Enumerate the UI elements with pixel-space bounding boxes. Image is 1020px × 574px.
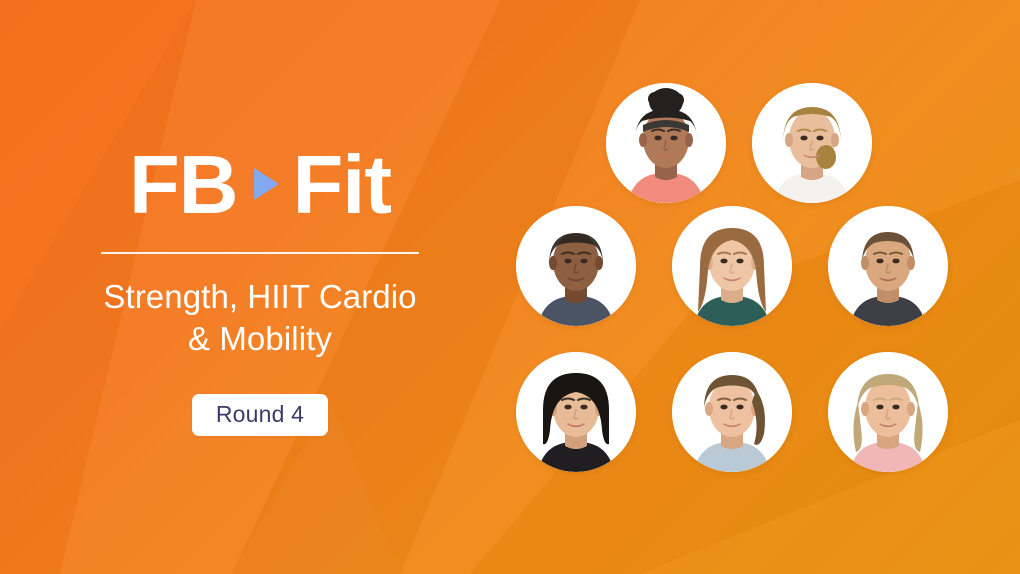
avatar-portrait — [516, 206, 636, 326]
avatar-portrait — [672, 206, 792, 326]
subtitle: Strength, HIIT Cardio & Mobility — [50, 276, 470, 360]
trainer-avatar[interactable] — [672, 352, 792, 472]
avatar-portrait — [828, 352, 948, 472]
brand-panel: FB Fit Strength, HIIT Cardio & Mobility … — [0, 0, 520, 574]
avatar-portrait — [606, 83, 726, 203]
trainer-avatar[interactable] — [606, 83, 726, 203]
logo-word-fit: Fit — [293, 143, 391, 226]
trainer-avatar[interactable] — [672, 206, 792, 326]
logo-word-fb: FB — [129, 143, 238, 226]
title-divider — [101, 252, 419, 254]
round-badge[interactable]: Round 4 — [192, 394, 328, 436]
trainer-avatar[interactable] — [828, 206, 948, 326]
play-triangle-icon — [254, 168, 279, 200]
avatar-portrait — [516, 352, 636, 472]
subtitle-line-2: & Mobility — [50, 318, 470, 360]
trainer-avatar[interactable] — [752, 83, 872, 203]
promo-banner: FB Fit Strength, HIIT Cardio & Mobility … — [0, 0, 1020, 574]
brand-logo: FB Fit — [129, 138, 391, 230]
avatar-portrait — [672, 352, 792, 472]
trainer-avatar[interactable] — [828, 352, 948, 472]
subtitle-line-1: Strength, HIIT Cardio — [50, 276, 470, 318]
trainer-avatar[interactable] — [516, 352, 636, 472]
avatar-portrait — [828, 206, 948, 326]
avatar-portrait — [752, 83, 872, 203]
trainer-avatar[interactable] — [516, 206, 636, 326]
